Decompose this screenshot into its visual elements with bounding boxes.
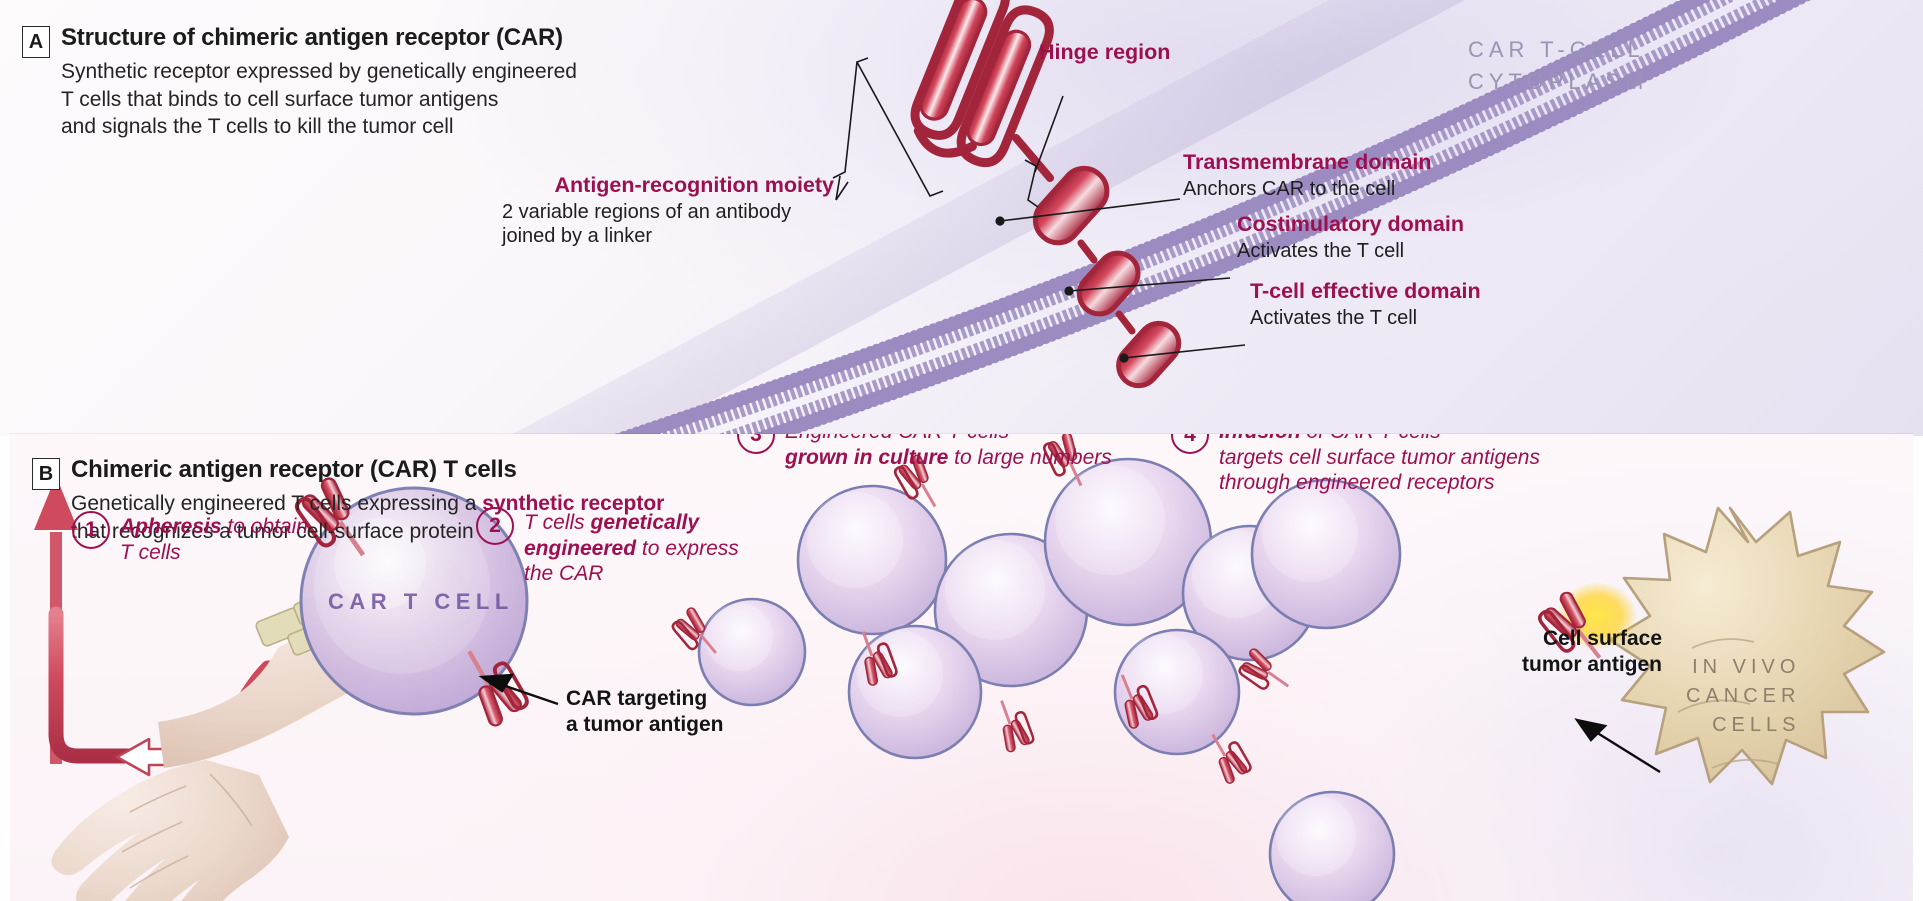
callout-transmembrane-domain-title: Transmembrane domain [1183, 150, 1432, 175]
callout-antigen-recognition-moiety-sub: 2 variable regions of an antibody joined… [502, 200, 834, 248]
panel-b: B Chimeric antigen receptor (CAR) T cell… [10, 434, 1913, 901]
panel-a: A Structure of chimeric antigen receptor… [0, 0, 1923, 436]
callout-tcell-effective-domain-title: T-cell effective domain [1250, 279, 1481, 304]
annotation-cell-surface-tumor-antigen: Cell surface tumor antigen [1482, 626, 1662, 677]
arrow-cell-surface-antigen [1577, 720, 1660, 772]
panel-a-heading: A Structure of chimeric antigen receptor… [22, 24, 577, 141]
callout-antigen-recognition-moiety-title: Antigen-recognition moiety [96, 173, 834, 198]
cytoplasm-label: CAR T-CELL CYTOPLASM [1468, 34, 1648, 98]
callout-costimulatory-domain-sub: Activates the T cell [1237, 239, 1464, 263]
panel-a-title: Structure of chimeric antigen receptor (… [61, 24, 577, 52]
callout-tcell-effective-domain-sub: Activates the T cell [1250, 306, 1481, 330]
annotation-car-targeting: CAR targeting a tumor antigen [566, 686, 724, 737]
callout-costimulatory-domain-title: Costimulatory domain [1237, 212, 1464, 237]
callout-tcell-effective-domain: T-cell effective domain Activates the T … [1250, 279, 1481, 330]
callout-transmembrane-domain: Transmembrane domain Anchors CAR to the … [1183, 150, 1432, 201]
callout-hinge-region-title: Hinge region [1039, 40, 1170, 65]
panel-a-tag: A [22, 26, 50, 58]
panel-a-subtitle: Synthetic receptor expressed by genetica… [61, 58, 577, 142]
callout-antigen-recognition-moiety: Antigen-recognition moiety 2 variable re… [96, 173, 834, 248]
arrow-car-targeting [482, 675, 558, 704]
callout-hinge-region: Hinge region [1039, 40, 1170, 65]
callout-costimulatory-domain: Costimulatory domain Activates the T cel… [1237, 212, 1464, 263]
callout-transmembrane-domain-sub: Anchors CAR to the cell [1183, 177, 1432, 201]
figure-root: A Structure of chimeric antigen receptor… [0, 0, 1923, 901]
